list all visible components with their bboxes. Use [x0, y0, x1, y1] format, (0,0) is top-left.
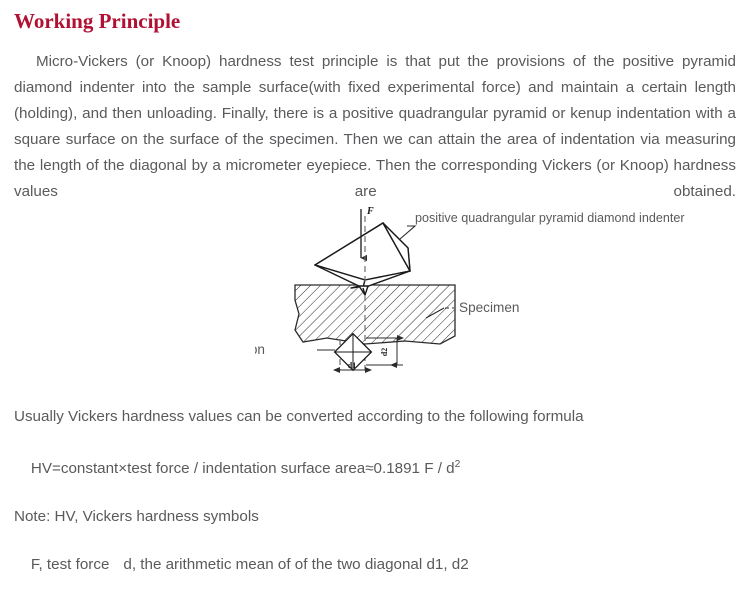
- formula-equation-line: HV=constant×test force / indentation sur…: [14, 429, 740, 505]
- formula-note-line: Note: HV, Vickers hardness symbols: [14, 505, 740, 529]
- indenter-leader-line: [400, 226, 415, 239]
- formula-symbols-line: F, test forced, the arithmetic mean of o…: [14, 529, 740, 601]
- force-label: F: [366, 206, 374, 217]
- formula-intro-line: Usually Vickers hardness values can be c…: [14, 405, 740, 429]
- formula-exponent: 2: [455, 459, 461, 470]
- specimen-block: [295, 285, 455, 344]
- page-title: Working Principle: [14, 9, 180, 34]
- indentation-label: Indentation: [255, 342, 265, 357]
- symbol-force-text: F, test force: [31, 556, 110, 573]
- dimension-d2-label: d2: [380, 348, 389, 356]
- indenter-label: positive quadrangular pyramid diamond in…: [415, 211, 685, 225]
- working-principle-diagram: F positive quadrangular pyramid diamond …: [255, 202, 745, 394]
- diagram-svg: F positive quadrangular pyramid diamond …: [255, 202, 745, 394]
- specimen-label: Specimen: [459, 300, 519, 315]
- formula-equation-text: HV=constant×test force / indentation sur…: [31, 460, 455, 477]
- pyramid-indenter: [315, 223, 410, 295]
- symbol-diagonal-text: d, the arithmetic mean of of the two dia…: [123, 556, 468, 573]
- dimension-d1-label: d1: [348, 361, 356, 370]
- formula-block: Usually Vickers hardness values can be c…: [14, 405, 740, 601]
